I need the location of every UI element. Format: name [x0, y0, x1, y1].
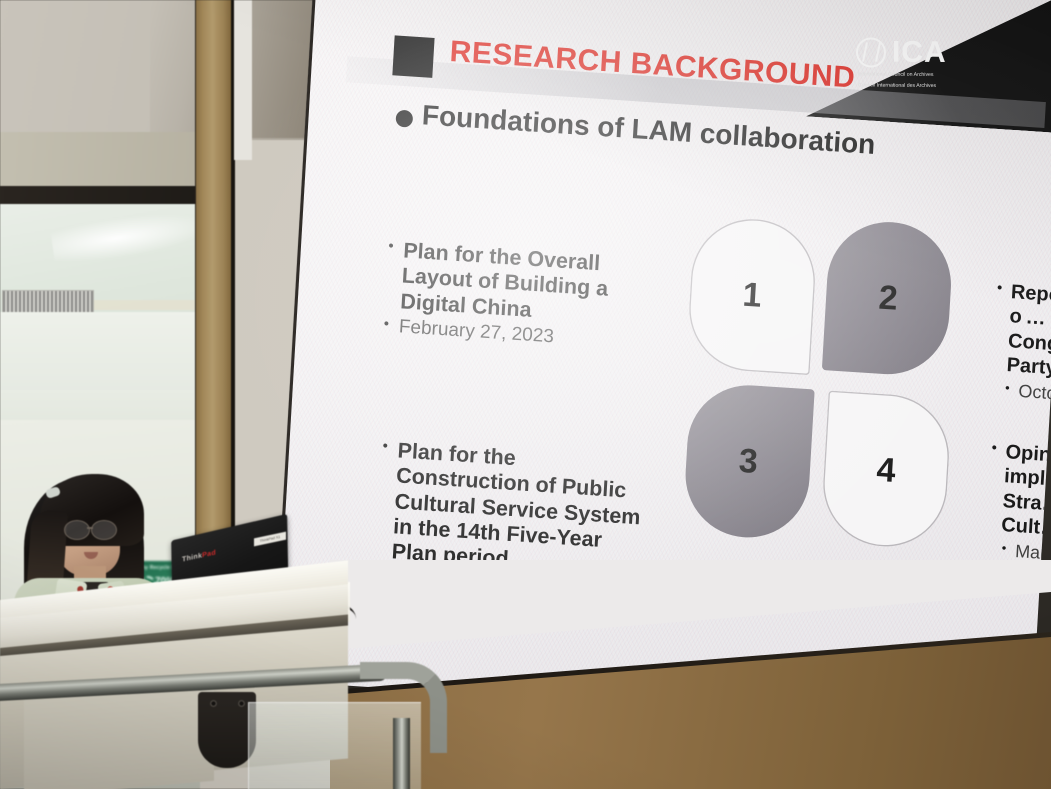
petal-3-number: 3 — [682, 381, 815, 541]
left-item-1: • Plan for the Overall Layout of Buildin… — [383, 237, 638, 354]
bullet-icon: • — [384, 237, 394, 313]
petal-4: 4 — [820, 390, 953, 550]
pinwheel-diagram: 1 2 3 4 — [675, 215, 994, 574]
petal-2-number: 2 — [822, 218, 955, 378]
right-item-1: • Report o … Congre… Party o… • October — [990, 279, 1051, 408]
left-item-1-title: Plan for the Overall Layout of Building … — [400, 238, 639, 329]
bullet-icon: • — [992, 279, 1003, 377]
handrail-horizontal — [0, 664, 388, 702]
left-item-2-title: Plan for the Construction of Public Cult… — [391, 438, 645, 581]
bullet-icon: • — [1001, 540, 1007, 562]
petal-4-number: 4 — [820, 390, 953, 550]
petal-1: 1 — [686, 215, 819, 375]
bullet-icon: • — [1004, 380, 1010, 402]
ica-subtitle-en: International Council on Archives — [858, 70, 1051, 79]
handrail-vertical-post — [393, 718, 410, 789]
bullet-icon: • — [376, 437, 389, 564]
glasses-bridge — [87, 527, 93, 529]
eyeglasses — [64, 520, 122, 538]
lens-right — [91, 520, 117, 540]
right-item-2: • Opini… imple… Stra… Cult… • Mar — [985, 439, 1051, 568]
ica-logo: ICA International Council on Archives Co… — [856, 37, 1051, 91]
ica-subtitle-fr: Conseil International des Archives — [858, 82, 1051, 91]
petal-3: 3 — [682, 381, 815, 541]
bullet-icon: • — [383, 315, 390, 338]
handrail — [0, 640, 420, 789]
title-square-marker-icon — [392, 35, 434, 78]
petal-1-number: 1 — [686, 215, 819, 375]
photo-canvas: Why Recycle Sho 70% of recyclables by 20… — [0, 0, 1051, 789]
right-item-2-title: Opini… imple… Stra… Cult… — [1001, 440, 1051, 544]
right-item-1-title: Report o … Congre… Party o… — [1006, 280, 1051, 384]
subtitle-bullet-icon — [395, 110, 413, 128]
lens-left — [64, 520, 90, 540]
petal-2: 2 — [822, 218, 955, 378]
ica-wordmark: ICA — [892, 38, 947, 67]
right-item-1-date: October — [1018, 380, 1051, 406]
ica-emblem-icon — [856, 37, 886, 67]
bullet-icon: • — [986, 439, 997, 537]
